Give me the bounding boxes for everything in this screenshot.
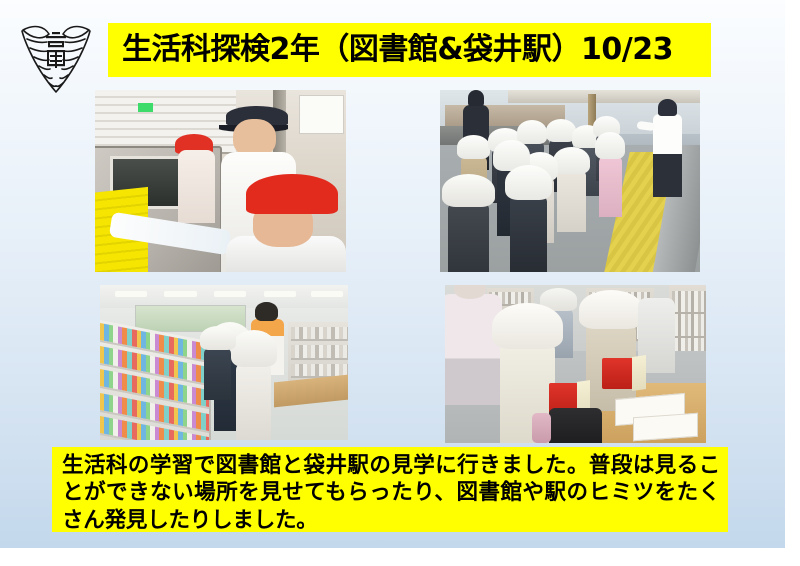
title-banner: 生活科探検2年（図書館&袋井駅）10/23 [108, 23, 711, 77]
slide-canvas: 生活科探検2年（図書館&袋井駅）10/23 駅の券売機を見学する児童と駅員 [0, 0, 785, 548]
school-crest-icon [18, 16, 94, 96]
photo-reading-table-scene [445, 285, 706, 443]
caption-text: 生活科の学習で図書館と袋井駅の見学に行きました。普段は見ることができない場所を見… [62, 452, 720, 534]
photo-library-shelves: 図書館の書架で本を探す児童 [100, 285, 348, 440]
photo-ticket-machine-scene [95, 90, 346, 272]
photo-station-platform-scene [440, 90, 700, 272]
photo-station-platform: ホームで駅員の説明を聞く児童 [440, 90, 700, 272]
photo-ticket-machine: 駅の券売機を見学する児童と駅員 [95, 90, 346, 272]
page-title: 生活科探検2年（図書館&袋井駅）10/23 [122, 35, 673, 65]
caption-banner: 生活科の学習で図書館と袋井駅の見学に行きました。普段は見ることができない場所を見… [52, 447, 728, 532]
photo-reading-table: 図書館の机で本を読む児童 [445, 285, 706, 443]
photo-library-shelves-scene [100, 285, 348, 440]
